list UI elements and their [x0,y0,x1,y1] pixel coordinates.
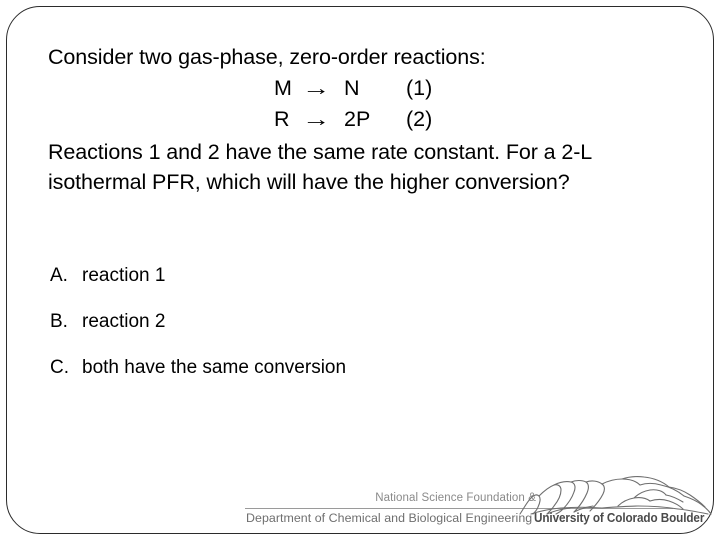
answer-text: reaction 1 [82,264,650,288]
question-text: Reactions 1 and 2 have the same rate con… [48,137,678,197]
cu-boulder-logo: University of Colorado Boulder [518,474,714,532]
department-credit-text: Department of Chemical and Biological En… [246,511,532,525]
answer-letter: C. [50,356,82,380]
answer-text: reaction 2 [82,310,650,334]
reaction-equations: M → N (1) R → 2P (2) [48,73,678,135]
equation-number: (2) [388,104,432,134]
reaction-equation-row: R → 2P (2) [48,104,678,135]
reaction-equation-row: M → N (1) [48,73,678,104]
product-label: 2P [338,104,388,134]
slide-footer: National Science Foundation & Department… [236,472,714,534]
reaction-arrow-icon: → [289,74,343,104]
answer-text: both have the same conversion [82,356,650,380]
reaction-arrow-icon: → [289,105,343,135]
product-label: N [338,73,388,103]
nsf-credit-text: National Science Foundation & [375,492,536,504]
university-wordmark: University of Colorado Boulder [534,511,704,525]
slide: Consider two gas-phase, zero-order react… [0,0,720,540]
answer-choice-c[interactable]: C. both have the same conversion [50,356,650,380]
answer-letter: A. [50,264,82,288]
answer-letter: B. [50,310,82,334]
intro-text: Consider two gas-phase, zero-order react… [48,42,678,72]
answer-choice-a[interactable]: A. reaction 1 [50,264,650,288]
equation-number: (1) [388,73,432,103]
slide-body: Consider two gas-phase, zero-order react… [48,42,678,197]
answer-choices-list: A. reaction 1 B. reaction 2 C. both have… [50,264,650,402]
answer-choice-b[interactable]: B. reaction 2 [50,310,650,334]
